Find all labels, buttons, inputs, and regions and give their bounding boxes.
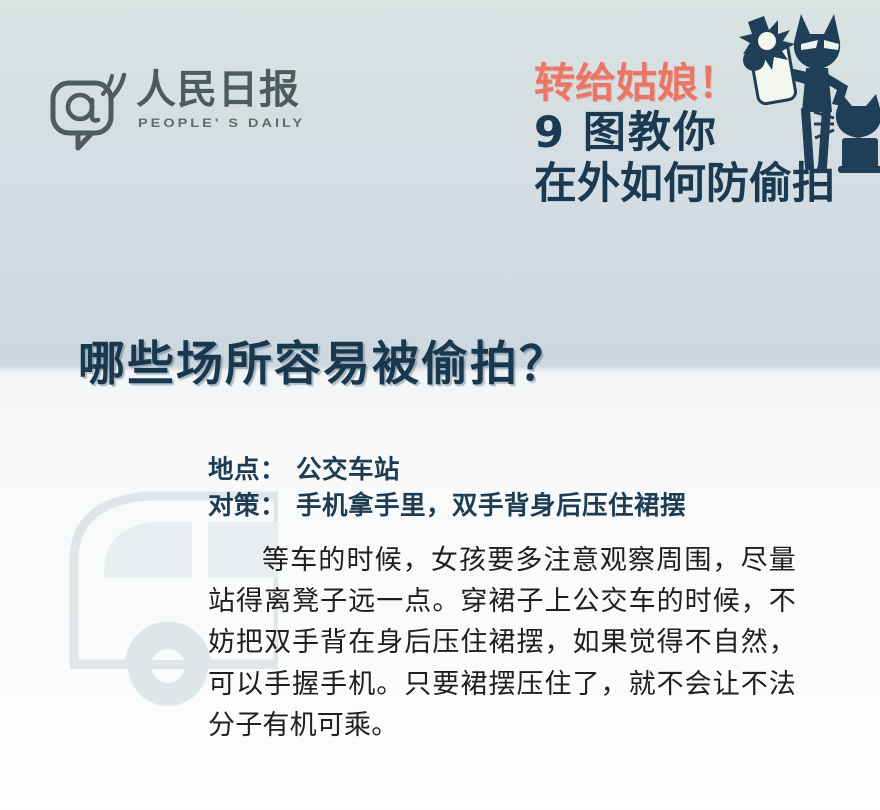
masked-man-with-camera-icon [706,8,880,208]
poster-canvas: 人民日报 PEOPLE' S DAILY 转给姑娘！ 9 图教你 在外如何防偷拍 [0,0,880,810]
body-paragraph: 等车的时候，女孩要多注意观察周围，尽量站得离凳子远一点。穿裙子上公交车的时候，不… [208,540,796,745]
tip-line: 对策：手机拿手里，双手背身后压住裙摆 [208,488,796,524]
page-title: 哪些场所容易被偷拍？ [78,325,568,394]
place-line: 地点：公交车站 [208,452,796,488]
tip-value: 手机拿手里，双手背身后压住裙摆 [296,491,686,521]
article-copy: 地点：公交车站 对策：手机拿手里，双手背身后压住裙摆 等车的时候，女孩要多注意观… [208,452,796,746]
logo-name-en: PEOPLE' S DAILY [138,117,305,130]
place-value: 公交车站 [296,455,400,485]
logo-name-cn: 人民日报 [136,70,300,110]
people-daily-logo: 人民日报 PEOPLE' S DAILY [48,72,258,154]
place-label: 地点： [208,455,286,485]
tip-label: 对策： [208,491,286,521]
